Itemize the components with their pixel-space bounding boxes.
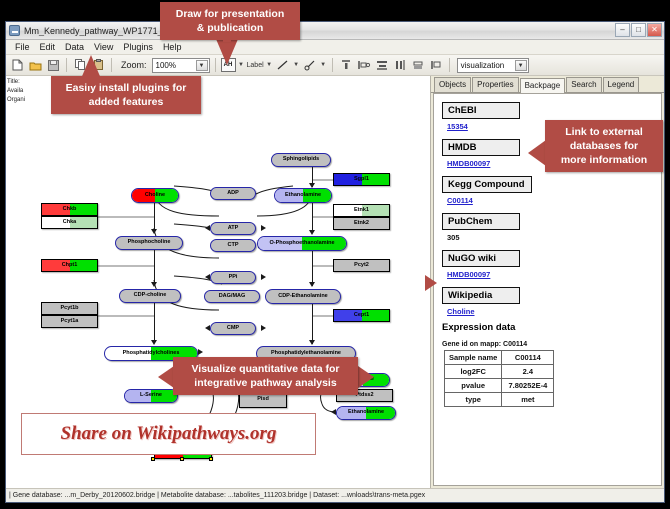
edge-pethanolamine-to-cdpeth [312, 251, 313, 286]
menu-file[interactable]: File [10, 41, 35, 53]
panel-tabs: Objects Properties Backpage Search Legen… [431, 76, 664, 93]
shape-tool-chevron-down-icon[interactable]: ▼ [238, 62, 245, 68]
callout-arrow-right-icon [358, 366, 374, 388]
node-o-phosphoethanolamine[interactable]: O-Phosphoethanolamine [257, 236, 347, 251]
db-header-pubchem: PubChem [442, 213, 520, 230]
edge-cdpcholine-to-pc [154, 303, 155, 343]
toolbar-separator [449, 58, 450, 72]
db-link-nugo-wiki[interactable]: HMDB00097 [447, 270, 661, 279]
edge-phosphocholine-to-cdpcholine [154, 250, 155, 285]
node-cdp-choline[interactable]: CDP-choline [119, 289, 181, 303]
node-label: CMP [227, 326, 239, 332]
callout-plugins: Easily install plugins for added feature… [51, 76, 201, 114]
node-label: CDP-choline [134, 293, 167, 299]
node-ctp[interactable]: CTP [210, 239, 256, 252]
label-tool-chevron-down-icon[interactable]: ▼ [266, 62, 273, 68]
share-text: Share on Wikipathways.org [61, 423, 277, 445]
node-ppi[interactable]: PPi [210, 271, 256, 284]
callout-line: Easily install plugins for [59, 81, 193, 95]
node-label: Etnk2 [354, 221, 369, 227]
common-width-icon[interactable] [410, 57, 426, 73]
node-ethanolamine-bottom[interactable]: Ethanolamine [336, 406, 396, 420]
arrow-down-icon [309, 282, 315, 287]
node-label: Pcyt1a [61, 319, 79, 325]
toolbar-separator [111, 58, 112, 72]
node-label: CTP [228, 243, 239, 249]
node-pcyt1a[interactable]: Pcyt1a [41, 315, 98, 328]
status-text: | Gene database: ...m_Derby_20120602.bri… [9, 492, 425, 499]
arrow-down-icon [151, 340, 157, 345]
visualization-chevron-down-icon[interactable]: ▼ [515, 60, 527, 71]
node-chpt1[interactable]: Chpt1 [41, 259, 98, 272]
line-tool-icon[interactable] [275, 57, 291, 73]
node-atp[interactable]: ATP [210, 222, 256, 235]
node-label: Cept1 [354, 313, 369, 319]
screenshot-root: Mm_Kennedy_pathway_WP1771_45176.gpml – □… [0, 0, 670, 509]
arrow-down-icon [309, 230, 315, 235]
edge-cdpeth-to-pe [312, 304, 313, 344]
arrow-down-icon [151, 229, 157, 234]
node-label: ADP [227, 191, 239, 197]
callout-line: more information [553, 153, 655, 167]
chevron-down-icon[interactable]: ▼ [196, 60, 208, 71]
callout-line: Visualize quantitative data for [181, 362, 350, 376]
menu-data[interactable]: Data [60, 41, 89, 53]
db-value-pubchem: 305 [447, 233, 661, 242]
visualization-value: visualization [461, 61, 505, 70]
callout-arrow-left-icon [528, 140, 546, 166]
callout-line: Draw for presentation [168, 7, 292, 21]
node-label: Etnk1 [354, 208, 369, 214]
label-tool-button[interactable]: Label [247, 62, 264, 69]
maximize-button[interactable]: □ [631, 23, 646, 37]
expression-table: Sample name C00114 log2FC 2.4 pvalue 7.8… [444, 350, 554, 407]
stack-icon[interactable] [428, 57, 444, 73]
visualization-combo[interactable]: visualization ▼ [457, 58, 529, 73]
callout-line: Link to external [553, 125, 655, 139]
toolbar-separator [332, 58, 333, 72]
node-label: Phosphatidylethanolamine [271, 351, 341, 357]
menu-bar: File Edit Data View Plugins Help [6, 40, 664, 55]
cell-value: C00114 [502, 351, 554, 365]
menu-help[interactable]: Help [158, 41, 187, 53]
tab-backpage[interactable]: Backpage [520, 78, 566, 93]
callout-arrow-left-icon [158, 366, 174, 388]
minimize-button[interactable]: – [615, 23, 630, 37]
node-cmp[interactable]: CMP [210, 322, 256, 335]
callout-line: integrative pathway analysis [181, 376, 350, 390]
db-header-chebi: ChEBI [442, 102, 520, 119]
anchor-tool-chevron-down-icon[interactable]: ▼ [320, 62, 327, 68]
arrow-pc-to-pe-icon [198, 349, 203, 355]
node-ethanolamine-top[interactable]: Ethanolamine [274, 188, 332, 203]
table-row: pvalue 7.80252E-4 [445, 379, 554, 393]
table-row: type met [445, 393, 554, 407]
callout-visualize: Visualize quantitative data for integrat… [173, 357, 358, 395]
arrow-left-icon [205, 325, 210, 331]
node-label: Ethanolamine [348, 410, 384, 416]
cell-value: 7.80252E-4 [502, 379, 554, 393]
cell-value: met [502, 393, 554, 407]
node-label: O-Phosphoethanolamine [269, 241, 334, 247]
menu-edit[interactable]: Edit [35, 41, 61, 53]
canvas-label-title: Title: [7, 78, 25, 87]
canvas-side-labels: Title: Availa Organi [7, 78, 25, 105]
gene-id-line: Gene id on mapp: C00114 [442, 341, 661, 348]
db-link-kegg-compound[interactable]: C00114 [447, 196, 661, 205]
arrow-left-icon [205, 274, 210, 280]
node-label: Choline [145, 193, 165, 199]
node-cdp-ethanolamine[interactable]: CDP-Ethanolamine [265, 289, 341, 304]
tab-objects[interactable]: Objects [434, 77, 471, 92]
callout-arrow-down-icon [216, 39, 238, 65]
node-chka[interactable]: Chka [41, 216, 98, 229]
pathvisio-icon [9, 25, 20, 36]
align-rows-icon[interactable] [374, 57, 390, 73]
table-row: Sample name C00114 [445, 351, 554, 365]
node-label: Ethanolamine [285, 193, 321, 199]
node-etnk1[interactable]: Etnk1 [333, 204, 390, 217]
callout-line: added features [59, 95, 193, 109]
arrow-to-ethanolamine-icon [331, 409, 336, 415]
anchor-tool-icon[interactable] [302, 57, 318, 73]
line-tool-chevron-down-icon[interactable]: ▼ [293, 62, 300, 68]
cell-key: pvalue [445, 379, 502, 393]
node-label: Pcyt2 [354, 263, 369, 269]
menu-view[interactable]: View [89, 41, 118, 53]
new-document-icon[interactable] [9, 57, 25, 73]
window-buttons: – □ ✕ [615, 23, 662, 37]
node-choline-top[interactable]: Choline [131, 188, 179, 203]
node-label: Chka [63, 220, 76, 226]
title-bar: Mm_Kennedy_pathway_WP1771_45176.gpml – □… [6, 22, 664, 40]
zoom-value: 100% [156, 61, 176, 70]
cell-key: log2FC [445, 365, 502, 379]
callout-links: Link to external databases for more info… [545, 120, 663, 172]
node-label: Pisd [257, 397, 269, 403]
db-header-hmdb: HMDB [442, 139, 520, 156]
node-label: Sgpl1 [354, 177, 369, 183]
arrow-down-icon [309, 183, 315, 188]
callout-arrow-stem [87, 78, 95, 86]
distribute-vertical-icon[interactable] [392, 57, 408, 73]
open-folder-icon[interactable] [27, 57, 43, 73]
arrow-right-icon [261, 225, 266, 231]
node-label: ATP [228, 226, 239, 232]
close-button[interactable]: ✕ [647, 23, 662, 37]
application-window: Mm_Kennedy_pathway_WP1771_45176.gpml – □… [5, 21, 665, 503]
node-l-serine-left[interactable]: L-Serine [124, 389, 178, 403]
db-header-nugo-wiki: NuGO wiki [442, 250, 520, 267]
callout-line: & publication [168, 21, 292, 35]
node-pcyt1b[interactable]: Pcyt1b [41, 302, 98, 315]
node-label: PPi [229, 275, 238, 281]
tab-properties[interactable]: Properties [472, 77, 518, 92]
arrow-down-icon [151, 282, 157, 287]
node-label: Pcyt1b [60, 306, 78, 312]
arrow-left-icon [205, 225, 210, 231]
callout-share: Share on Wikipathways.org [21, 413, 316, 455]
cell-key: Sample name [445, 351, 502, 365]
align-top-icon[interactable] [338, 57, 354, 73]
table-row: log2FC 2.4 [445, 365, 554, 379]
callout-line: databases for [553, 139, 655, 153]
node-cept1[interactable]: Cept1 [333, 309, 390, 322]
node-label: L-Serine [140, 393, 162, 399]
status-bar: | Gene database: ...m_Derby_20120602.bri… [6, 488, 664, 502]
db-header-wikipedia: Wikipedia [442, 287, 520, 304]
db-header-kegg-compound: Kegg Compound [442, 176, 532, 193]
db-link-wikipedia[interactable]: Choline [447, 307, 661, 316]
callout-arrow-stem [223, 36, 231, 42]
canvas-label-available: Availa [7, 87, 25, 96]
canvas-label-organism: Organi [7, 96, 25, 105]
node-label: Phosphocholine [128, 240, 171, 246]
node-chkb[interactable]: Chkb [41, 203, 98, 216]
callout-arrow-right-icon [425, 275, 437, 291]
node-label: Phosphatidylcholines [123, 351, 180, 357]
node-sphingolipids[interactable]: Sphingolipids [271, 153, 331, 167]
cell-key: type [445, 393, 502, 407]
node-label: Chpt1 [62, 263, 78, 269]
node-dagmag[interactable]: DAG/MAG [204, 290, 260, 303]
zoom-combo[interactable]: 100% ▼ [152, 58, 210, 73]
arrow-right-icon [261, 274, 266, 280]
node-pcyt2[interactable]: Pcyt2 [333, 259, 390, 272]
node-adp[interactable]: ADP [210, 187, 256, 200]
pathway-canvas[interactable]: Title: Availa Organi [6, 76, 431, 488]
cell-value: 2.4 [502, 365, 554, 379]
expression-data-title: Expression data [442, 322, 661, 333]
node-phosphocholine[interactable]: Phosphocholine [115, 236, 183, 250]
node-etnk2[interactable]: Etnk2 [333, 217, 390, 230]
node-sgpl1[interactable]: Sgpl1 [333, 173, 390, 186]
toolbar-separator [66, 58, 67, 72]
node-label: DAG/MAG [219, 294, 246, 300]
node-label: Ptdss2 [355, 393, 373, 399]
arrow-right-icon [261, 325, 266, 331]
align-left-icon[interactable] [356, 57, 372, 73]
tool-bar: Zoom: 100% ▼ AH ▼ Label ▼ ▼ ▼ [6, 55, 664, 76]
node-label: Sphingolipids [283, 157, 319, 163]
edge-ethanolamine-to-pethanolamine [312, 203, 313, 233]
arrow-down-icon [309, 340, 315, 345]
tab-legend[interactable]: Legend [603, 77, 640, 92]
zoom-label: Zoom: [121, 60, 147, 70]
save-disk-icon[interactable] [45, 57, 61, 73]
node-label: Chkb [63, 207, 77, 213]
menu-plugins[interactable]: Plugins [118, 41, 158, 53]
callout-draw: Draw for presentation & publication [160, 2, 300, 40]
tab-search[interactable]: Search [566, 77, 601, 92]
node-label: CDP-Ethanolamine [278, 294, 328, 300]
